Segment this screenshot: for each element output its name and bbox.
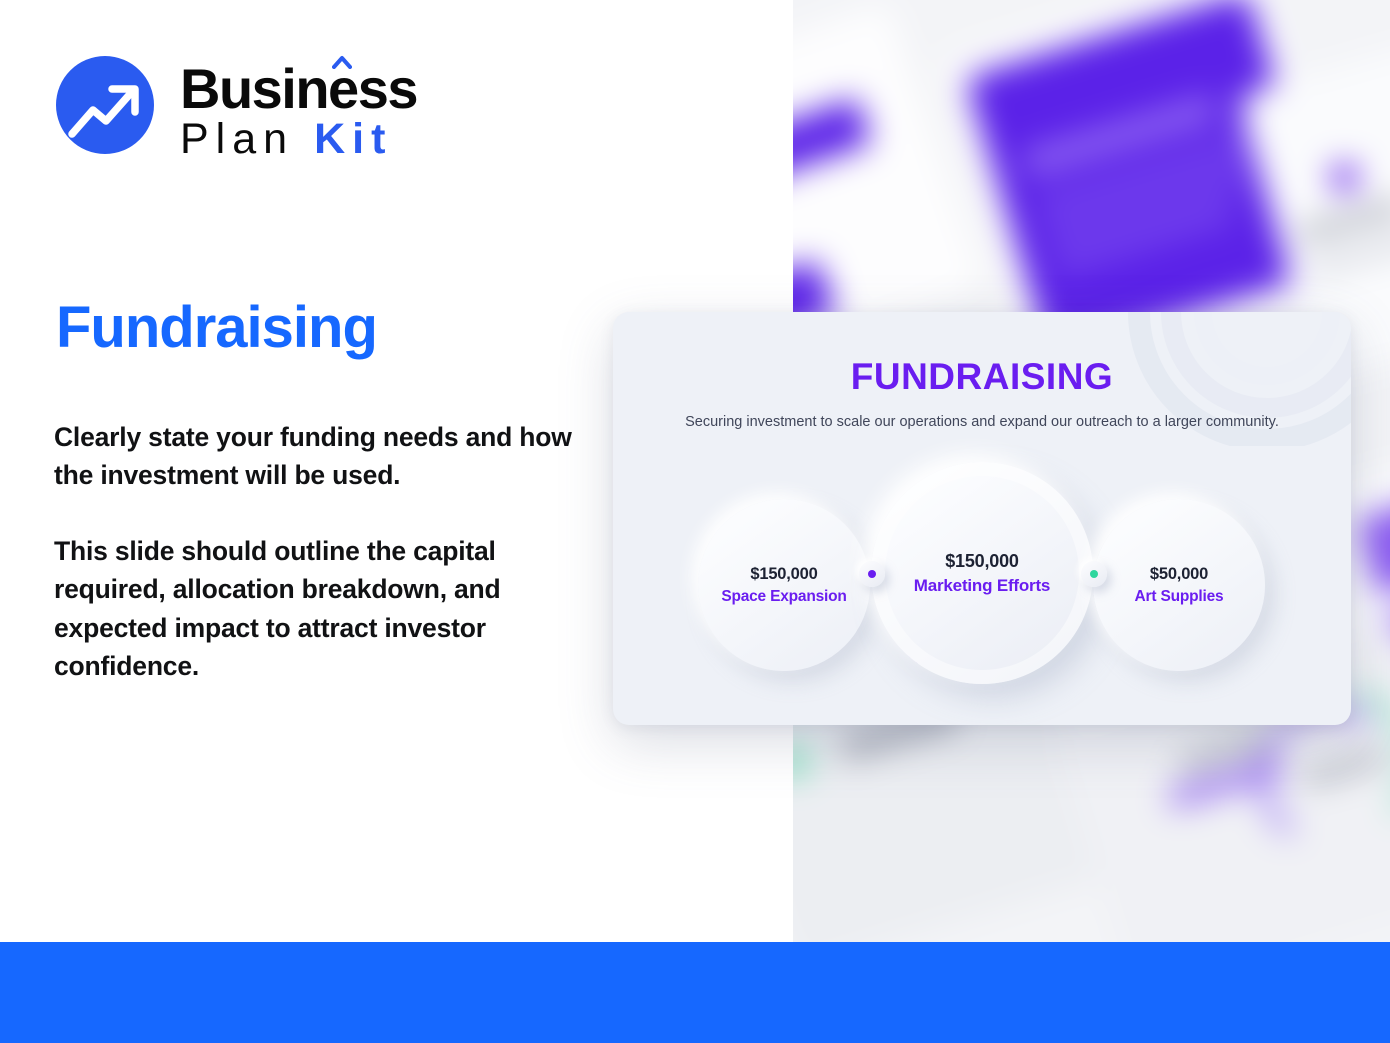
- brand-kit-text: Kit: [314, 115, 392, 163]
- left-node-dot-icon: [859, 561, 885, 587]
- body-paragraph-2: This slide should outline the capital re…: [54, 532, 614, 685]
- brand-plan-text: Plan: [180, 115, 294, 163]
- slide-subtitle: Securing investment to scale our operati…: [613, 412, 1351, 433]
- footer-bar: [0, 942, 1390, 1043]
- body-paragraph-1: Clearly state your funding needs and how…: [54, 418, 614, 494]
- bubble-label: Marketing Efforts: [914, 576, 1050, 596]
- growth-arrow-icon: [56, 56, 154, 154]
- brand-wordmark: Business PlanKit: [180, 56, 417, 161]
- brand-name-line1: Business: [180, 62, 417, 115]
- caret-accent-icon: [332, 55, 352, 69]
- right-node-dot-icon: [1081, 561, 1107, 587]
- brand-name-line2: PlanKit: [180, 118, 417, 161]
- brand-name-text: Business: [180, 57, 417, 120]
- bubble-label: Space Expansion: [721, 588, 846, 606]
- slide-title: FUNDRAISING: [613, 356, 1351, 398]
- fundraising-allocation-chart: $150,000 Space Expansion $150,000 Market…: [613, 474, 1351, 704]
- allocation-bubble-art-supplies[interactable]: $50,000 Art Supplies: [1093, 499, 1265, 671]
- allocation-bubble-space-expansion[interactable]: $150,000 Space Expansion: [698, 499, 870, 671]
- bubble-amount: $150,000: [750, 565, 817, 584]
- page-title: Fundraising: [56, 296, 377, 360]
- slide-preview-card[interactable]: FUNDRAISING Securing investment to scale…: [613, 312, 1351, 725]
- body-copy: Clearly state your funding needs and how…: [54, 418, 614, 685]
- bubble-label: Art Supplies: [1135, 588, 1224, 606]
- bubble-amount: $50,000: [1150, 565, 1208, 584]
- bubble-amount: $150,000: [945, 551, 1018, 572]
- brand-logo: Business PlanKit: [56, 56, 417, 161]
- allocation-bubble-marketing-efforts[interactable]: $150,000 Marketing Efforts: [871, 462, 1093, 684]
